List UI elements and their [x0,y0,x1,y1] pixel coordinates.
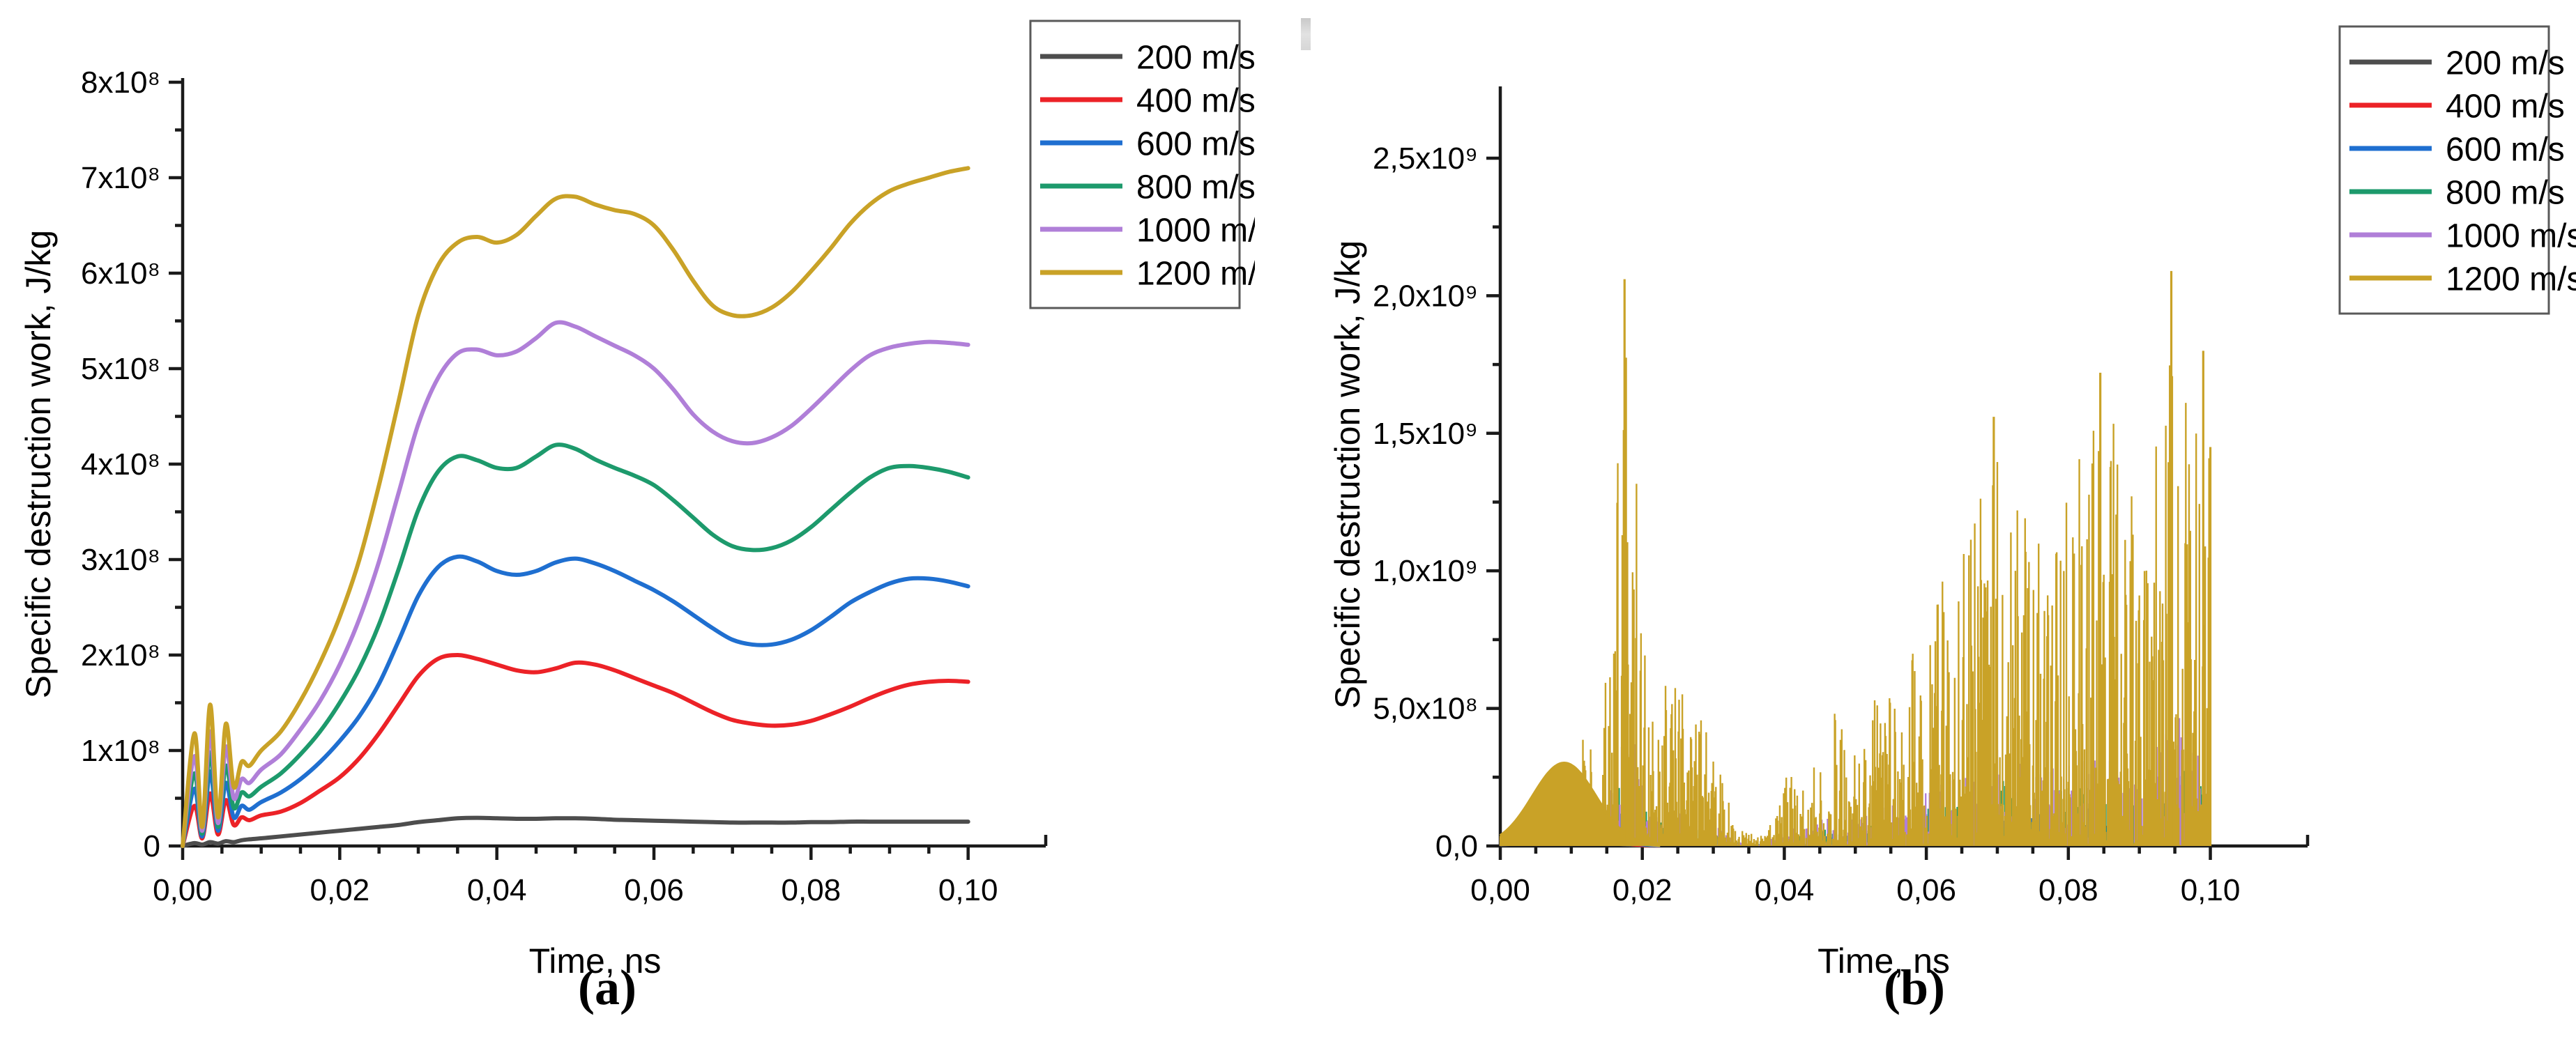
scan-artifact-mark [1301,18,1311,50]
y-tick-label: 0 [144,829,160,863]
legend: 200 m/s400 m/s600 m/s800 m/s1000 m/s1200… [2340,26,2576,314]
y-tick-label: 2x10⁸ [81,638,160,672]
panel-a-svg: 01x10⁸2x10⁸3x10⁸4x10⁸5x10⁸6x10⁸7x10⁸8x10… [0,0,1255,1062]
subplot-label-a: (a) [578,962,637,1013]
x-tick-label: 0,04 [1755,873,1815,907]
y-tick-label: 1x10⁸ [81,734,160,768]
y-tick-label: 7x10⁸ [81,161,160,195]
y-tick-label: 5,0x10⁸ [1373,692,1478,726]
y-tick-label: 5x10⁸ [81,352,160,386]
y-axis-title: Specific destruction work, J/kg [1328,240,1367,709]
x-tick-label: 0,10 [2181,873,2241,907]
y-tick-label: 0,0 [1435,829,1478,863]
legend-label: 400 m/s [1136,82,1255,119]
x-tick-label: 0,00 [1470,873,1530,907]
subplot-label-b: (b) [1884,962,1945,1013]
chart-panel-b: 0,05,0x10⁸1,0x10⁹1,5x10⁹2,0x10⁹2,5x10⁹0,… [1255,0,2576,1062]
y-tick-label: 8x10⁸ [81,66,160,100]
legend-label: 1000 m/s [1136,212,1255,249]
y-tick-label: 2,5x10⁹ [1373,141,1478,176]
x-tick-label: 0,04 [467,873,527,907]
series-line-1200 [183,168,968,846]
x-tick-label: 0,02 [310,873,370,907]
legend-label: 1200 m/s [2446,261,2576,298]
legend-label: 200 m/s [2446,45,2565,82]
legend-label: 600 m/s [2446,131,2565,168]
x-tick-label: 0,08 [2038,873,2098,907]
x-tick-label: 0,06 [1896,873,1956,907]
series-line-800 [183,445,968,846]
legend-label: 1200 m/s [1136,255,1255,292]
x-tick-label: 0,10 [938,873,998,907]
y-tick-label: 2,0x10⁹ [1373,279,1478,313]
legend-label: 400 m/s [2446,88,2565,125]
y-tick-label: 1,5x10⁹ [1373,417,1478,451]
x-tick-label: 0,06 [624,873,684,907]
spike-series-group [1500,357,2211,846]
x-tick-label: 0,08 [782,873,841,907]
legend-label: 800 m/s [2446,174,2565,211]
notable-spikes [1624,271,2210,846]
y-tick-label: 3x10⁸ [81,543,160,577]
legend-label: 1000 m/s [2446,217,2576,254]
y-axis-title: Specific destruction work, J/kg [19,230,58,699]
legend-label: 800 m/s [1136,169,1255,206]
y-tick-label: 6x10⁸ [81,256,160,291]
legend-label: 600 m/s [1136,125,1255,162]
series-line-200 [183,818,968,846]
series-line-1000 [183,322,968,846]
panel-b-svg: 0,05,0x10⁸1,0x10⁹1,5x10⁹2,0x10⁹2,5x10⁹0,… [1255,0,2576,1062]
x-tick-label: 0,00 [153,873,213,907]
chart-panel-a: 01x10⁸2x10⁸3x10⁸4x10⁸5x10⁸6x10⁸7x10⁸8x10… [0,0,1255,1062]
spike-series-1200 [1500,357,2211,846]
figure-root: 01x10⁸2x10⁸3x10⁸4x10⁸5x10⁸6x10⁸7x10⁸8x10… [0,0,2576,1062]
y-tick-label: 1,0x10⁹ [1373,554,1478,588]
legend-label: 200 m/s [1136,39,1255,76]
y-tick-label: 4x10⁸ [81,447,160,482]
x-tick-label: 0,02 [1613,873,1672,907]
legend: 200 m/s400 m/s600 m/s800 m/s1000 m/s1200… [1030,21,1255,308]
